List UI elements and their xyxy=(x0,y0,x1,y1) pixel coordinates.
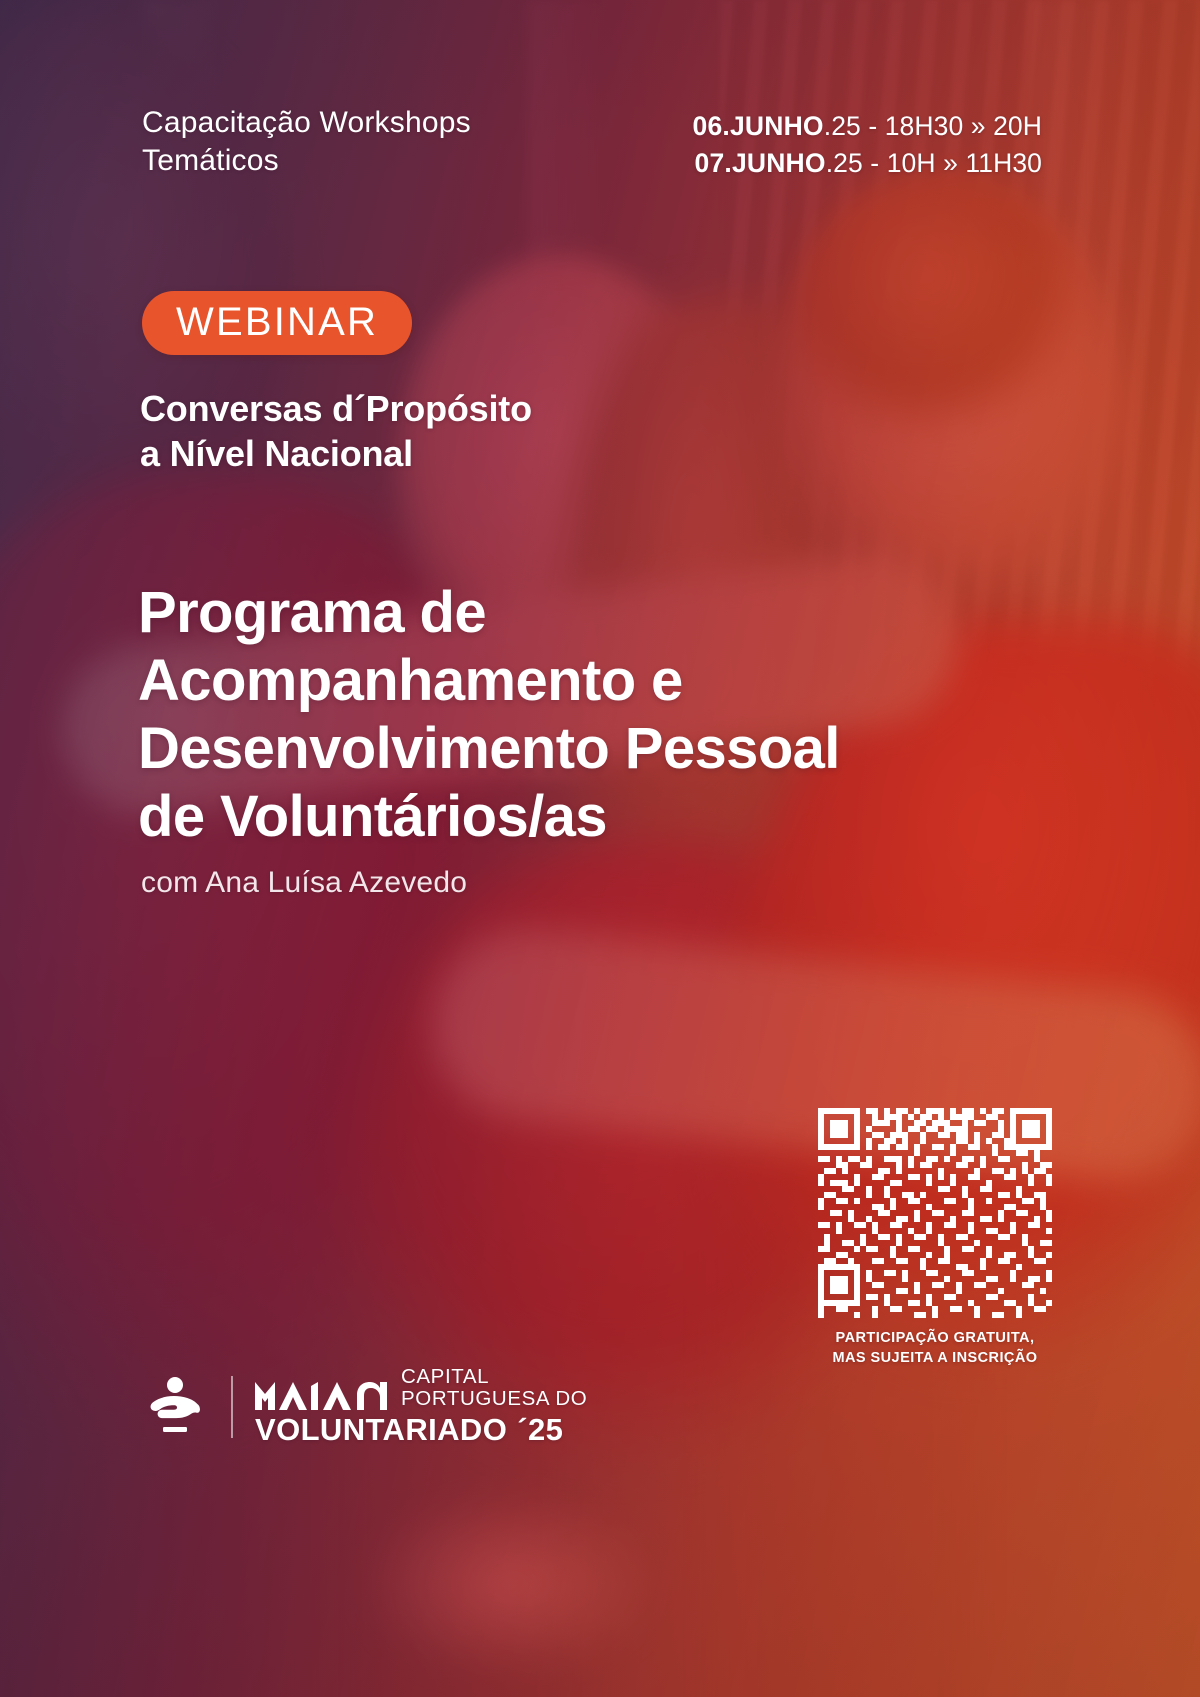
title-line-4: de Voluntários/as xyxy=(138,783,840,851)
webinar-badge: WEBINAR xyxy=(142,291,412,355)
event-dates: 06.JUNHO.25 - 18H30 » 20H 07.JUNHO.25 - … xyxy=(693,108,1042,182)
logo-capital-line-2: PORTUGUESA DO xyxy=(401,1388,587,1410)
logo-voluntariado: VOLUNTARIADO xyxy=(255,1413,507,1447)
qr-code[interactable] xyxy=(818,1096,1052,1318)
logo-divider xyxy=(231,1376,233,1438)
page-title: Programa de Acompanhamento e Desenvolvim… xyxy=(138,579,840,851)
logo-lockup: CAPITAL PORTUGUESA DO VOLUNTARIADO ´25 xyxy=(143,1366,587,1447)
logo-capital: CAPITAL PORTUGUESA DO xyxy=(401,1366,587,1410)
event-date-day: 07.JUNHO xyxy=(695,148,826,178)
logo-text: CAPITAL PORTUGUESA DO VOLUNTARIADO ´25 xyxy=(255,1366,587,1447)
maia-wordmark-icon xyxy=(255,1376,387,1410)
maia-volunteer-hands-icon xyxy=(143,1376,207,1438)
title-line-2: Acompanhamento e xyxy=(138,647,840,715)
logo-bottom-row: VOLUNTARIADO ´25 xyxy=(255,1413,587,1447)
subtitle: Conversas d´Propósito a Nível Nacional xyxy=(140,386,532,476)
subtitle-line-2: a Nível Nacional xyxy=(140,431,532,476)
event-date-row: 06.JUNHO.25 - 18H30 » 20H xyxy=(693,108,1042,145)
logo-capital-line-1: CAPITAL xyxy=(401,1366,587,1388)
qr-note: PARTICIPAÇÃO GRATUITA, MAS SUJEITA A INS… xyxy=(818,1328,1052,1368)
webinar-badge-label: WEBINAR xyxy=(176,302,378,342)
kicker-line-2: Temáticos xyxy=(142,142,471,180)
qr-note-line-2: MAS SUJEITA A INSCRIÇÃO xyxy=(818,1348,1052,1368)
title-line-3: Desenvolvimento Pessoal xyxy=(138,715,840,783)
logo-year: ´25 xyxy=(517,1413,563,1447)
event-date-day: 06.JUNHO xyxy=(693,111,824,141)
subtitle-line-1: Conversas d´Propósito xyxy=(140,386,532,431)
poster-content: Capacitação Workshops Temáticos 06.JUNHO… xyxy=(0,0,1200,1697)
kicker-text: Capacitação Workshops Temáticos xyxy=(142,104,471,180)
qr-code-icon[interactable] xyxy=(818,1096,1052,1318)
logo-top-row: CAPITAL PORTUGUESA DO xyxy=(255,1366,587,1410)
kicker-line-1: Capacitação Workshops xyxy=(142,104,471,142)
title-line-1: Programa de xyxy=(138,579,840,647)
poster: Capacitação Workshops Temáticos 06.JUNHO… xyxy=(0,0,1200,1697)
event-date-time: .25 - 18H30 » 20H xyxy=(824,111,1042,141)
event-date-row: 07.JUNHO.25 - 10H » 11H30 xyxy=(693,145,1042,182)
presenter-name: com Ana Luísa Azevedo xyxy=(141,866,467,900)
event-date-time: .25 - 10H » 11H30 xyxy=(826,148,1042,178)
qr-note-line-1: PARTICIPAÇÃO GRATUITA, xyxy=(818,1328,1052,1348)
